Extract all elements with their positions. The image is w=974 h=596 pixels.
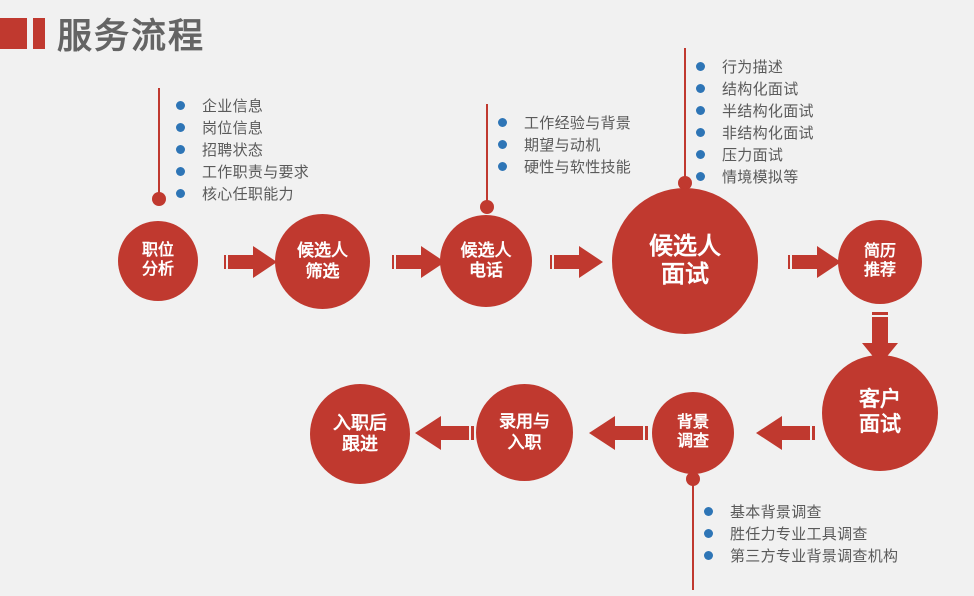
node-candidate-phone[interactable]: 候选人 电话 [440,215,532,307]
connector-line-candidate-interview [684,48,686,184]
list-item: 期望与动机 [498,134,631,154]
list-item: 招聘状态 [176,139,309,159]
node-candidate-screen[interactable]: 候选人 筛选 [275,214,370,309]
bullet-dot-icon [176,167,185,176]
list-item-label: 工作经验与背景 [524,112,631,133]
arrow-interview-to-resume [786,245,842,279]
list-item: 硬性与软性技能 [498,156,631,176]
node-offer-onboard[interactable]: 录用与 入职 [476,384,573,481]
connector-line-background-check [692,478,694,590]
node-label-line-1: 候选人 [297,241,348,261]
title-accent-block-narrow [33,18,45,49]
list-item-label: 压力面试 [722,144,783,165]
node-candidate-interview[interactable]: 候选人 面试 [612,188,758,334]
node-label-line-1: 候选人 [649,233,721,261]
list-item: 基本背景调查 [704,501,898,521]
node-label-line-2: 筛选 [306,262,340,282]
node-background-check[interactable]: 背景 调查 [652,392,734,474]
list-item-label: 非结构化面试 [722,122,814,143]
bullet-dot-icon [704,551,713,560]
arrow-job-to-screen [222,245,278,279]
bullet-dot-icon [176,189,185,198]
node-label-line-2: 跟进 [342,434,378,455]
list-item: 核心任职能力 [176,183,309,203]
connector-line-job-analysis [158,88,160,198]
list-item: 半结构化面试 [696,100,814,120]
node-label-line-2: 调查 [677,433,709,452]
title-accent-block-wide [0,18,27,49]
node-label-line-2: 电话 [469,261,503,281]
bullet-dot-icon [696,128,705,137]
arrow-background-to-offer [588,415,650,451]
bullet-dot-icon [498,162,507,171]
node-job-analysis[interactable]: 职位 分析 [118,221,198,301]
bullet-dot-icon [176,145,185,154]
bullet-list-candidate-interview-details: 行为描述 结构化面试 半结构化面试 非结构化面试 压力面试 情境模拟等 [696,56,814,188]
list-item: 行为描述 [696,56,814,76]
node-label-line-2: 面试 [859,413,901,438]
list-item-label: 企业信息 [202,95,263,116]
node-label-line-1: 简历 [864,243,896,262]
arrow-phone-to-interview [548,245,604,279]
list-item-label: 胜任力专业工具调查 [730,523,868,544]
node-client-interview[interactable]: 客户 面试 [822,355,938,471]
connector-line-candidate-phone [486,104,488,208]
list-item: 情境模拟等 [696,166,814,186]
bullet-dot-icon [696,172,705,181]
bullet-dot-icon [696,62,705,71]
bullet-dot-icon [696,84,705,93]
bullet-list-candidate-phone-details: 工作经验与背景 期望与动机 硬性与软性技能 [498,112,631,178]
list-item: 企业信息 [176,95,309,115]
connector-dot-job-analysis [152,192,166,206]
node-resume-recommend[interactable]: 简历 推荐 [838,220,922,304]
bullet-dot-icon [498,140,507,149]
list-item: 压力面试 [696,144,814,164]
bullet-dot-icon [704,529,713,538]
node-label-line-2: 分析 [142,261,174,280]
flowchart-canvas: 服务流程 企业信息 岗位信息 招聘状态 工作职责与要求 核心任职能力 [0,0,974,596]
list-item-label: 期望与动机 [524,134,601,155]
page-title: 服务流程 [57,8,205,59]
list-item: 结构化面试 [696,78,814,98]
bullet-list-job-analysis-details: 企业信息 岗位信息 招聘状态 工作职责与要求 核心任职能力 [176,95,309,205]
list-item: 岗位信息 [176,117,309,137]
list-item-label: 核心任职能力 [202,183,294,204]
list-item-label: 基本背景调查 [730,501,822,522]
node-label-line-2: 推荐 [864,262,896,281]
arrow-client-to-background [755,415,817,451]
node-label-line-1: 背景 [677,414,709,433]
node-label-line-1: 客户 [859,388,901,413]
node-label-line-2: 入职 [508,433,542,453]
node-label-line-2: 面试 [661,261,709,289]
node-label-line-1: 候选人 [461,241,512,261]
list-item-label: 工作职责与要求 [202,161,309,182]
node-label-line-1: 录用与 [499,412,550,432]
node-post-onboard[interactable]: 入职后 跟进 [310,384,410,484]
bullet-dot-icon [498,118,507,127]
arrow-screen-to-phone [390,245,446,279]
bullet-dot-icon [696,106,705,115]
list-item-label: 第三方专业背景调查机构 [730,545,898,566]
list-item: 工作职责与要求 [176,161,309,181]
list-item-label: 硬性与软性技能 [524,156,631,177]
connector-dot-background-check [686,472,700,486]
list-item: 非结构化面试 [696,122,814,142]
connector-dot-candidate-phone [480,200,494,214]
list-item: 胜任力专业工具调查 [704,523,898,543]
list-item-label: 岗位信息 [202,117,263,138]
list-item: 第三方专业背景调查机构 [704,545,898,565]
bullet-dot-icon [696,150,705,159]
list-item-label: 半结构化面试 [722,100,814,121]
arrow-offer-to-post-onboard [414,415,476,451]
node-label-line-1: 入职后 [333,413,387,434]
bullet-list-background-check-details: 基本背景调查 胜任力专业工具调查 第三方专业背景调查机构 [704,501,898,567]
bullet-dot-icon [704,507,713,516]
list-item-label: 行为描述 [722,56,783,77]
list-item: 工作经验与背景 [498,112,631,132]
list-item-label: 结构化面试 [722,78,799,99]
bullet-dot-icon [176,123,185,132]
bullet-dot-icon [176,101,185,110]
node-label-line-1: 职位 [142,242,174,261]
list-item-label: 招聘状态 [202,139,263,160]
list-item-label: 情境模拟等 [722,166,799,187]
